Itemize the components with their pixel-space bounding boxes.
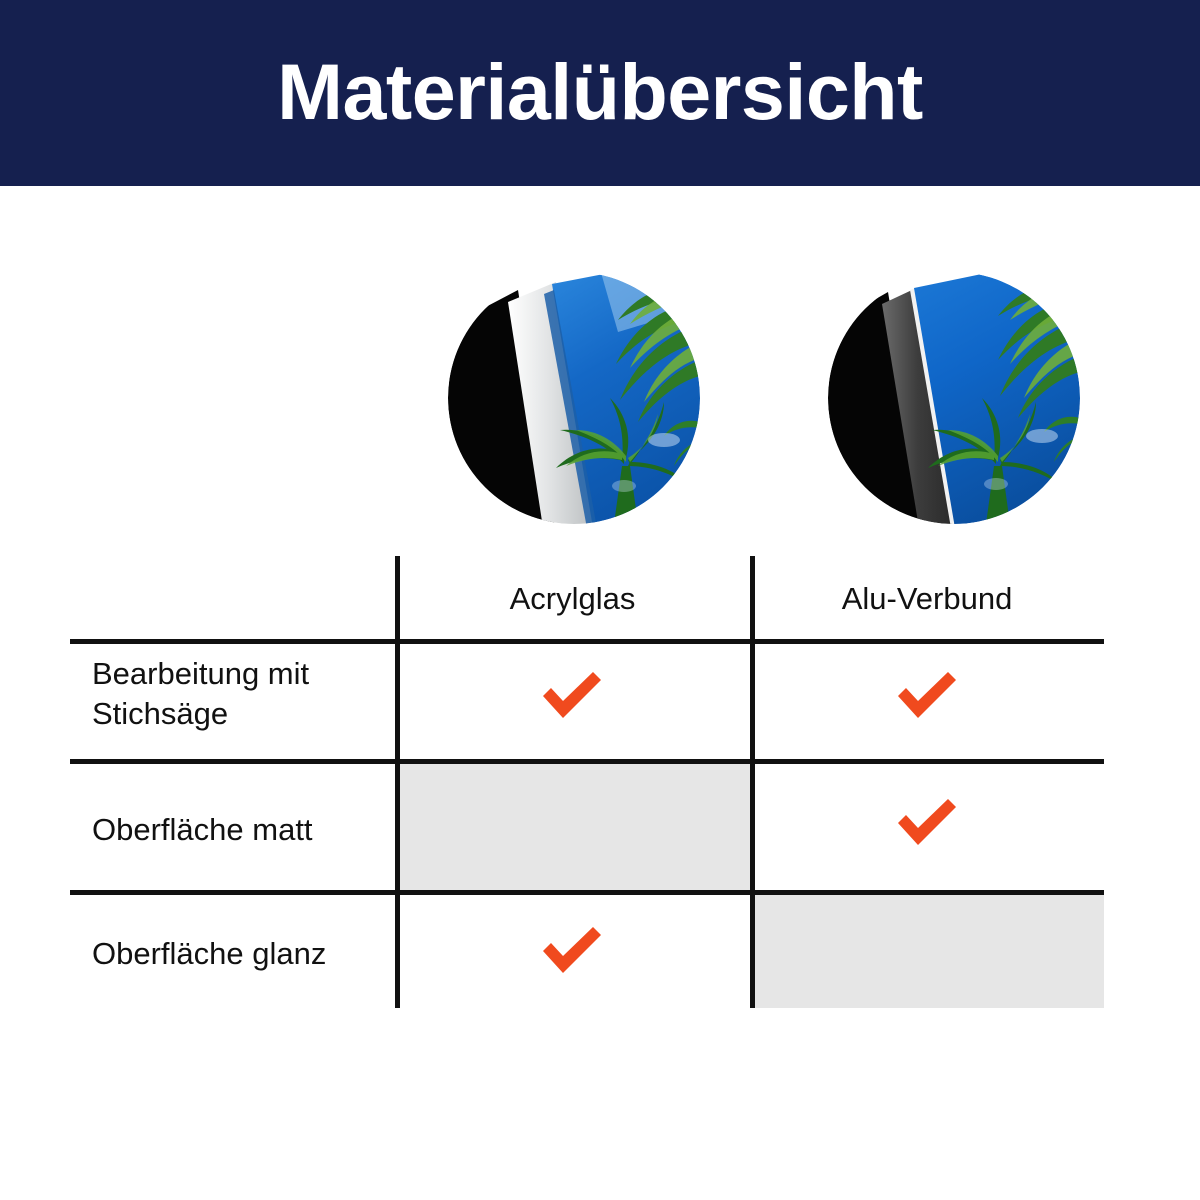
material-comparison-table: Acrylglas Alu-Verbund Bearbeitung mit St… [70,556,1104,1008]
table-cell-empty-acrylglas-matt [395,764,750,890]
page-title: Materialübersicht [277,52,923,131]
acrylglas-thumbnail[interactable] [448,272,700,524]
check-icon-alu-verbund-bearbeitung [893,669,961,723]
column-header-label: Alu-Verbund [842,581,1013,617]
row-label-line-1: Oberfläche matt [92,810,382,850]
table-rule-row1 [70,759,1104,764]
check-icon-alu-verbund-matt [893,796,961,850]
material-thumbnails [0,272,1200,524]
table-row-label-bearbeitung: Bearbeitung mit Stichsäge [92,654,382,733]
table-column-header-alu-verbund: Alu-Verbund [750,556,1104,641]
table-column-header-acrylglas: Acrylglas [395,556,750,641]
page-header: Materialübersicht [0,0,1200,186]
row-label-line-1: Bearbeitung mit [92,654,382,694]
table-cell-empty-alu-verbund-glanz [750,895,1104,1008]
row-label-line-2: Stichsäge [92,694,382,734]
table-rule-row2 [70,890,1104,895]
column-header-label: Acrylglas [510,581,636,617]
table-row-label-matt: Oberfläche matt [92,810,382,850]
check-icon-acrylglas-glanz [538,924,606,978]
check-icon-acrylglas-bearbeitung [538,669,606,723]
table-row-label-glanz: Oberfläche glanz [92,934,382,974]
row-label-line-1: Oberfläche glanz [92,934,382,974]
alu-verbund-thumbnail[interactable] [828,272,1080,524]
